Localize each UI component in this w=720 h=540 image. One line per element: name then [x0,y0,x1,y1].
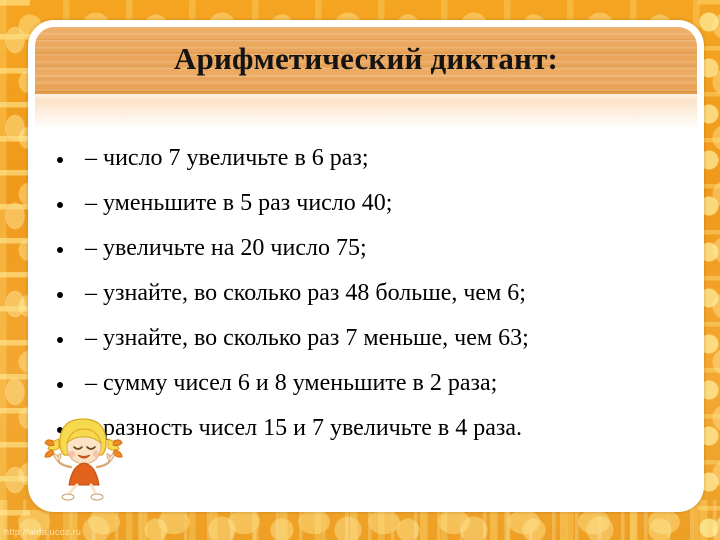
dictation-task-list: – число 7 увеличьте в 6 раз; – уменьшите… [35,136,697,451]
list-item: – узнайте, во сколько раз 7 меньше, чем … [53,316,697,361]
frame-stripes-left [0,0,30,540]
cartoon-girl-icon [39,409,131,501]
title-panel-reflection [34,94,698,130]
list-item: – уменьшите в 5 раз число 40; [53,181,697,226]
title-panel: Арифметический диктант: [34,26,698,94]
list-item: – сумму чисел 6 и 8 уменьшите в 2 раза; [53,361,697,406]
list-item: – увеличьте на 20 число 75; [53,226,697,271]
list-item: – число 7 увеличьте в 6 раз; [53,136,697,181]
content-card: Арифметический диктант: – число 7 увелич… [28,20,704,512]
list-item: – узнайте, во сколько раз 48 больше, чем… [53,271,697,316]
slide-canvas: http://aida.ucoz.ru Арифметический дикта… [0,0,720,540]
list-item: – разность чисел 15 и 7 увеличьте в 4 ра… [53,406,697,451]
source-watermark: http://aida.ucoz.ru [4,527,81,537]
page-title: Арифметический диктант: [174,41,558,79]
